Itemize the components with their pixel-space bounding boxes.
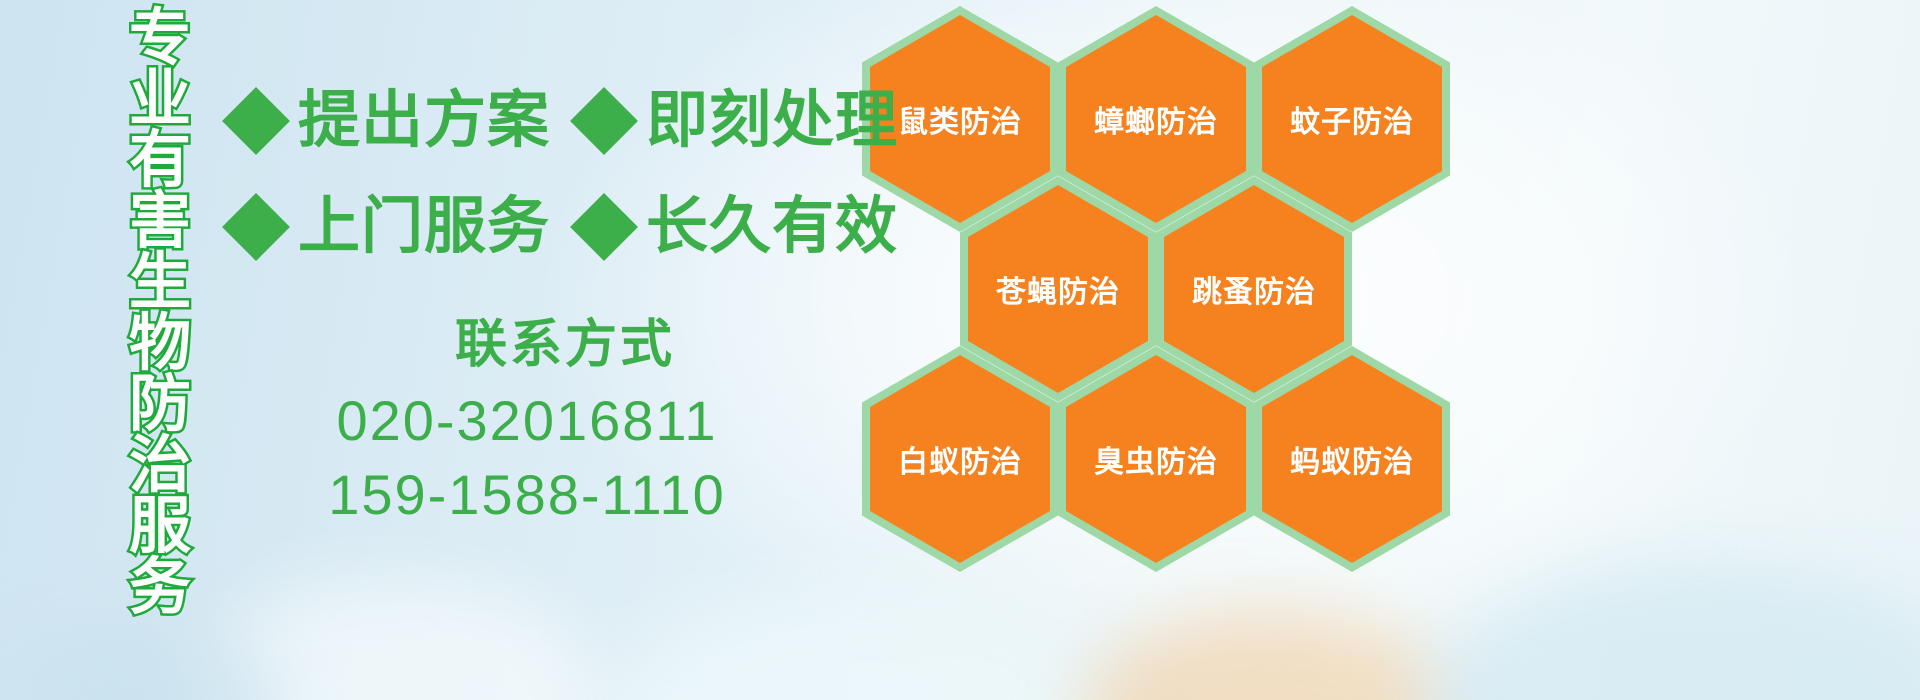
service-label: 臭虫防治 (1094, 437, 1218, 481)
diamond-bullet-icon (570, 87, 638, 155)
phone-number-mobile[interactable]: 159-1588-1110 (230, 458, 790, 532)
hexagon-fill: 臭虫防治 (1066, 355, 1246, 563)
service-label: 蟑螂防治 (1094, 97, 1218, 141)
hexagon-fill: 白蚁防治 (870, 355, 1050, 563)
background-blur-blob (180, 580, 600, 700)
hexagon-fill: 蚂蚁防治 (1262, 355, 1442, 563)
vertical-headline-char: 物 (129, 313, 191, 374)
vertical-headline-char: 害 (129, 191, 191, 252)
service-label: 白蚁防治 (898, 437, 1022, 481)
service-label: 蚊子防治 (1290, 97, 1414, 141)
hexagon-fill: 跳蚤防治 (1164, 185, 1344, 393)
pest-control-banner: 专 业 有 害 生 物 防 治 服 务 提出方案 即刻处理 上门服务 长久有效 (0, 0, 1920, 700)
vertical-headline-char: 生 (129, 252, 191, 313)
feature-row-1: 提出方案 即刻处理 (232, 90, 898, 152)
service-label: 苍蝇防治 (996, 267, 1120, 311)
vertical-headline-char: 专 (129, 8, 191, 69)
service-label: 跳蚤防治 (1192, 267, 1316, 311)
hexagon-fill: 苍蝇防治 (968, 185, 1148, 393)
feature-label: 长久有效 (646, 196, 898, 258)
vertical-headline-char: 服 (129, 496, 191, 557)
feature-label: 即刻处理 (646, 90, 898, 152)
service-label: 鼠类防治 (898, 97, 1022, 141)
diamond-bullet-icon (222, 193, 290, 261)
service-label: 蚂蚁防治 (1290, 437, 1414, 481)
feature-label: 提出方案 (298, 90, 550, 152)
hexagon-fill: 蟑螂防治 (1066, 15, 1246, 223)
phone-number-landline[interactable]: 020-32016811 (230, 384, 790, 458)
background-blur-blob (20, 620, 280, 700)
background-blur-blob (1080, 610, 1460, 700)
service-hexagon-grid: 鼠类防治 蟑螂防治 蚊子防治 苍蝇防治 跳蚤防治 白蚁防治 (856, 0, 1466, 560)
feature-item: 长久有效 (580, 196, 898, 258)
feature-item: 即刻处理 (580, 90, 898, 152)
background-blur-blob (600, 590, 1120, 700)
hexagon-fill: 蚊子防治 (1262, 15, 1442, 223)
contact-block: 联系方式 020-32016811 159-1588-1110 (230, 316, 790, 532)
vertical-headline-char: 防 (129, 374, 191, 435)
vertical-headline-char: 业 (129, 69, 191, 130)
vertical-headline-char: 务 (129, 557, 191, 618)
diamond-bullet-icon (222, 87, 290, 155)
contact-heading: 联系方式 (230, 316, 790, 376)
vertical-headline-char: 治 (129, 435, 191, 496)
feature-item: 提出方案 (232, 90, 550, 152)
feature-label: 上门服务 (298, 196, 550, 258)
feature-item: 上门服务 (232, 196, 550, 258)
vertical-headline: 专 业 有 害 生 物 防 治 服 务 (108, 8, 212, 568)
background-blur-blob (1420, 560, 1920, 700)
feature-row-2: 上门服务 长久有效 (232, 196, 898, 258)
diamond-bullet-icon (570, 193, 638, 261)
vertical-headline-char: 有 (129, 130, 191, 191)
